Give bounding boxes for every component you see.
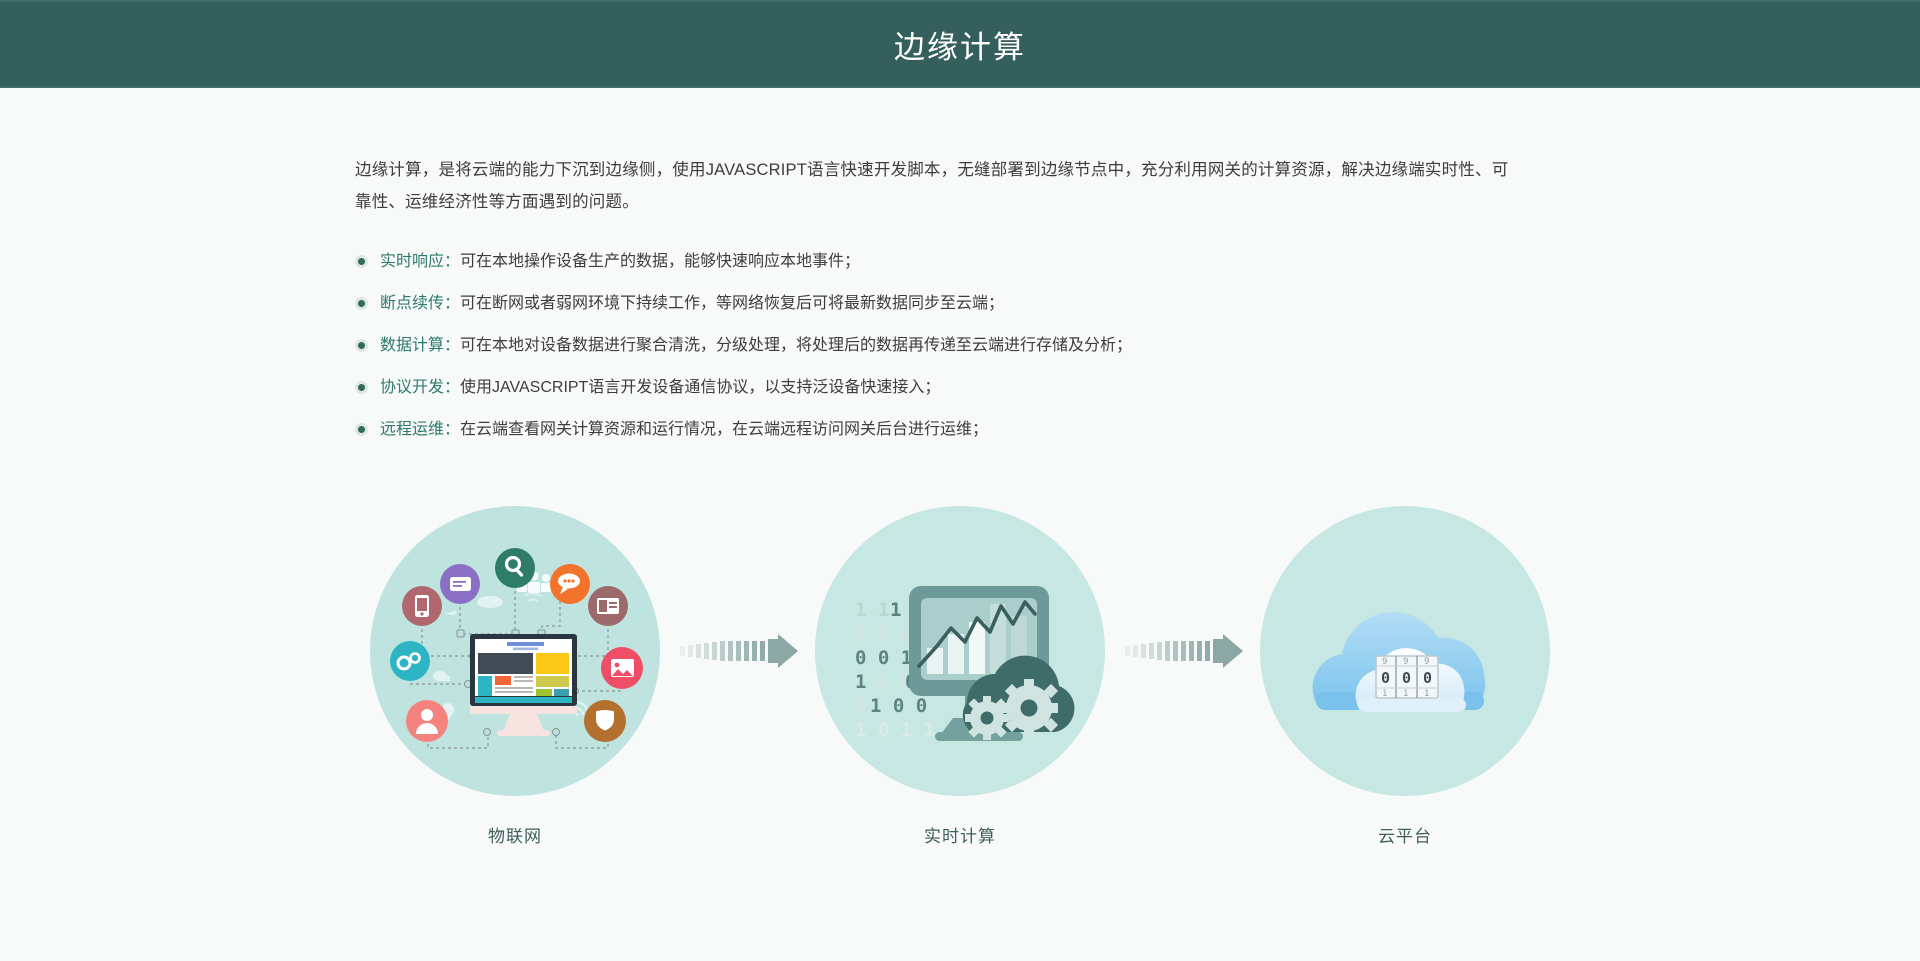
svg-text:1 1: 1 1 — [855, 599, 889, 621]
svg-text:1: 1 — [1382, 689, 1387, 699]
user-icon — [406, 700, 448, 742]
list-item: 远程运维：在云端查看网关计算资源和运行情况，在云端远程访问网关后台进行运维； — [355, 418, 1565, 442]
counter-display: 0 0 0 9 9 9 1 1 1 — [1376, 656, 1438, 699]
feature-term: 远程运维： — [380, 421, 460, 438]
svg-text:1 0 1 1: 1 0 1 1 — [855, 719, 935, 741]
page-header: 边缘计算 — [0, 0, 1920, 88]
flow-node-iot: 物联网 — [365, 506, 665, 847]
svg-text:1: 1 — [1424, 689, 1429, 699]
flow-node-cloud: 0 0 0 9 9 9 1 1 1 — [1255, 506, 1555, 847]
svg-text:0: 0 — [1381, 669, 1390, 687]
bullet-icon — [355, 423, 368, 436]
svg-text:0: 0 — [1423, 669, 1432, 687]
feature-description: 可在断网或者弱网环境下持续工作，等网络恢复后可将最新数据同步至云端； — [460, 295, 1004, 312]
flow-node-compute: 1 1 1 0 0 1 0 1 0 0 0 1 0 1 1 0 0 0 1 0 … — [810, 506, 1110, 847]
flow-node-label: 物联网 — [488, 822, 542, 847]
flow-diagram: 物联网 — [355, 506, 1565, 847]
list-item: 断点续传：可在断网或者弱网环境下持续工作，等网络恢复后可将最新数据同步至云端； — [355, 292, 1565, 316]
feature-list: 实时响应：可在本地操作设备生产的数据，能够快速响应本地事件； 断点续传：可在断网… — [355, 250, 1565, 442]
bullet-icon — [355, 381, 368, 394]
feature-description: 在云端查看网关计算资源和运行情况，在云端远程访问网关后台进行运维； — [460, 421, 988, 438]
image-icon — [601, 647, 643, 689]
arrow-iot-to-compute — [665, 506, 810, 796]
arrow-compute-to-cloud — [1110, 506, 1255, 796]
svg-text:1: 1 — [1403, 689, 1408, 699]
svg-text:9: 9 — [1403, 657, 1408, 667]
feature-term: 实时响应： — [380, 253, 460, 270]
svg-text:9: 9 — [1382, 657, 1387, 667]
svg-text:9: 9 — [1424, 657, 1429, 667]
search-icon — [495, 548, 535, 588]
link-icon — [390, 641, 430, 681]
bullet-icon — [355, 297, 368, 310]
page-title: 边缘计算 — [894, 22, 1026, 67]
svg-text:1 0 0: 1 0 0 — [870, 695, 927, 717]
list-item: 实时响应：可在本地操作设备生产的数据，能够快速响应本地事件； — [355, 250, 1565, 274]
list-item: 数据计算：可在本地对设备数据进行聚合清洗，分级处理，将处理后的数据再传递至云端进… — [355, 334, 1565, 358]
feature-term: 协议开发： — [380, 379, 460, 396]
flow-node-label: 云平台 — [1378, 822, 1432, 847]
message-icon — [440, 564, 480, 604]
cloud-platform-icon: 0 0 0 9 9 9 1 1 1 — [1260, 506, 1550, 796]
monitor-icon — [470, 634, 577, 736]
list-item: 协议开发：使用JAVASCRIPT语言开发设备通信协议，以支持泛设备快速接入； — [355, 376, 1565, 400]
feature-term: 断点续传： — [380, 295, 460, 312]
svg-text:0: 0 — [1402, 669, 1411, 687]
main-content: 边缘计算，是将云端的能力下沉到边缘侧，使用JAVASCRIPT语言快速开发脚本，… — [355, 88, 1565, 847]
realtime-compute-icon: 1 1 1 0 0 1 0 1 0 0 0 1 0 1 1 0 0 0 1 0 … — [815, 506, 1105, 796]
feature-description: 使用JAVASCRIPT语言开发设备通信协议，以支持泛设备快速接入； — [460, 379, 940, 396]
shield-icon — [584, 700, 626, 742]
feature-term: 数据计算： — [380, 337, 460, 354]
feature-description: 可在本地操作设备生产的数据，能够快速响应本地事件； — [460, 253, 860, 270]
bullet-icon — [355, 339, 368, 352]
bullet-icon — [355, 255, 368, 268]
flow-node-label: 实时计算 — [924, 822, 996, 847]
chat-icon — [550, 564, 590, 604]
intro-paragraph: 边缘计算，是将云端的能力下沉到边缘侧，使用JAVASCRIPT语言快速开发脚本，… — [355, 154, 1520, 218]
svg-text:1: 1 — [855, 671, 866, 693]
iot-devices-icon — [370, 506, 660, 796]
feature-description: 可在本地对设备数据进行聚合清洗，分级处理，将处理后的数据再传递至云端进行存储及分… — [460, 337, 1132, 354]
svg-text:0: 0 — [855, 695, 866, 717]
mobile-icon — [402, 586, 442, 626]
id-card-icon — [588, 586, 628, 626]
